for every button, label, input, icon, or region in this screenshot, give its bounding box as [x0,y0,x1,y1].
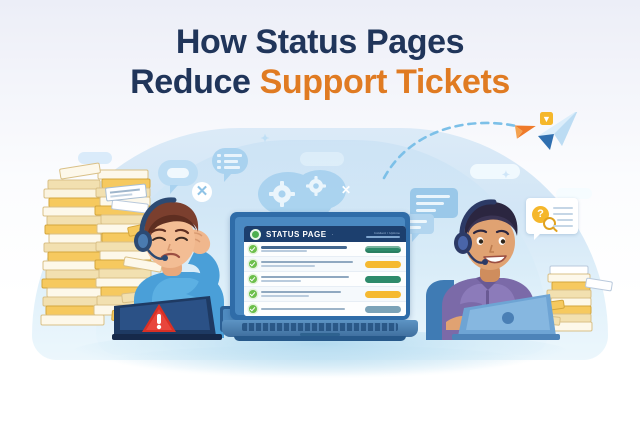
happy-agent [424,190,560,340]
status-badge [365,261,401,268]
status-page-meta-rule [366,236,400,238]
sparkle-icon: ✦ [258,132,272,146]
status-badge [365,291,401,298]
laptop-front-edge [234,336,406,341]
laptop-bezel: STATUS PAGE . Incident / Uptime [235,217,405,315]
table-row[interactable] [244,287,406,302]
status-page-meta-text: Incident / Uptime [374,231,400,235]
laptop-lid: STATUS PAGE . Incident / Uptime [230,212,410,320]
status-page-screen[interactable]: STATUS PAGE . Incident / Uptime [244,226,406,316]
status-badge [365,246,401,253]
arrow-head [511,120,536,143]
table-row[interactable] [244,272,406,287]
check-circle-icon [249,275,257,283]
paper-plane-icon: ▼ [538,112,578,150]
check-circle-icon [249,260,257,268]
status-page-subtitle: . [332,231,334,237]
check-circle-icon [249,290,257,298]
flow-arrow-group: ▼ [382,112,582,182]
status-page-meta: Incident / Uptime [366,231,400,238]
laptop-keyboard [242,323,398,331]
illustration-canvas: How Status Pages Reduce Support Tickets [0,0,640,427]
table-row[interactable] [244,257,406,272]
headline-line-1: How Status Pages [0,22,640,62]
status-page-header: STATUS PAGE . Incident / Uptime [244,226,406,242]
table-row[interactable] [244,242,406,257]
table-row[interactable] [244,302,406,316]
check-circle-icon [250,229,261,240]
headline-accent: Support Tickets [260,63,510,101]
svg-text:▼: ▼ [542,114,551,124]
status-badge [365,306,401,313]
headline-plain: Reduce [130,63,259,101]
status-row-list [244,242,406,316]
close-x-icon: ✕ [338,182,354,198]
row-text-placeholder [261,276,361,282]
check-circle-icon [249,305,257,313]
headline-block: How Status Pages Reduce Support Tickets [0,22,640,102]
status-page-title: STATUS PAGE [266,230,327,239]
status-page-laptop: STATUS PAGE . Incident / Uptime [222,212,418,352]
headline-line-2: Reduce Support Tickets [0,62,640,102]
row-text-placeholder [261,308,361,310]
speech-bubble-icon [212,148,248,174]
status-badge [365,276,401,283]
row-text-placeholder [261,246,361,252]
row-text-placeholder [261,261,361,267]
check-circle-icon [249,245,257,253]
row-text-placeholder [261,291,361,297]
